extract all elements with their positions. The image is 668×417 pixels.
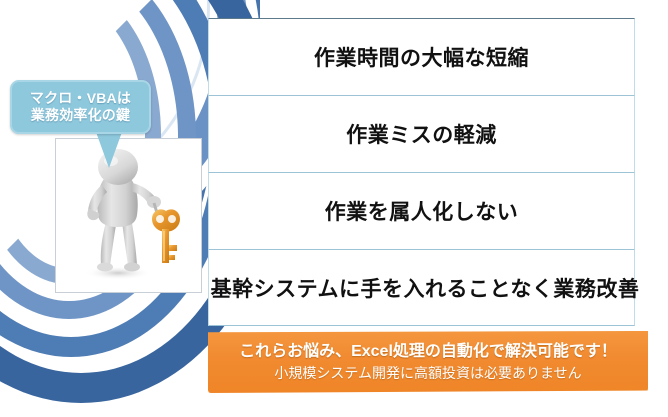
benefit-row: 作業ミスの軽減	[208, 95, 635, 172]
slide-canvas: マクロ・VBAは 業務効率化の鍵 作業時間の大幅な短縮 作業ミスの軽減 作業を属…	[0, 0, 668, 417]
solution-banner: これらお悩み、Excel処理の自動化で解決可能です！ 小規模システム開発に高額投…	[208, 331, 648, 393]
person-with-key-icon	[56, 139, 201, 292]
benefits-table: 作業時間の大幅な短縮 作業ミスの軽減 作業を属人化しない 基幹システムに手を入れ…	[208, 18, 635, 326]
benefit-row: 基幹システムに手を入れることなく業務改善	[208, 249, 635, 326]
speech-bubble-tail	[96, 132, 122, 168]
speech-bubble-line-2: 業務効率化の鍵	[31, 107, 130, 125]
banner-headline: これらお悩み、Excel処理の自動化で解決可能です！	[239, 342, 617, 362]
speech-bubble-callout: マクロ・VBAは 業務効率化の鍵	[10, 80, 151, 134]
benefit-label: 基幹システムに手を入れることなく業務改善	[208, 273, 642, 303]
benefit-label: 作業を属人化しない	[325, 196, 519, 226]
illustration-card	[55, 138, 202, 293]
benefit-label: 作業時間の大幅な短縮	[314, 42, 529, 72]
benefit-row: 作業を属人化しない	[208, 172, 635, 249]
speech-bubble-line-1: マクロ・VBAは	[30, 90, 131, 108]
banner-subline: 小規模システム開発に高額投資は必要ありません	[274, 364, 581, 382]
benefit-label: 作業ミスの軽減	[346, 119, 497, 149]
benefit-row: 作業時間の大幅な短縮	[208, 18, 635, 95]
